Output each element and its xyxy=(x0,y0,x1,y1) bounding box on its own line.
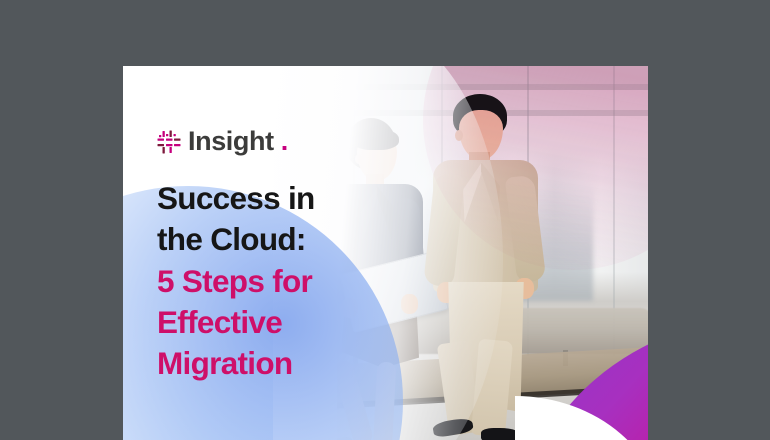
headline-line-3: 5 Steps for xyxy=(157,261,339,302)
ebook-cover-card: Insight . Success in the Cloud: 5 Steps … xyxy=(123,66,648,440)
screenshot-viewport: Insight . Success in the Cloud: 5 Steps … xyxy=(0,0,770,440)
headline-line-2: the Cloud: xyxy=(157,219,339,260)
insight-hash-mark-icon xyxy=(157,130,181,154)
headline-line-4: Effective xyxy=(157,302,339,343)
headline-line-1: Success in xyxy=(157,178,339,219)
insight-trademark-dot: . xyxy=(281,128,289,155)
insight-wordmark: Insight xyxy=(188,128,274,155)
insight-brand-lockup: Insight . xyxy=(157,128,288,155)
cover-headline: Success in the Cloud: 5 Steps for Effect… xyxy=(157,178,339,384)
headline-line-5: Migration xyxy=(157,343,339,384)
